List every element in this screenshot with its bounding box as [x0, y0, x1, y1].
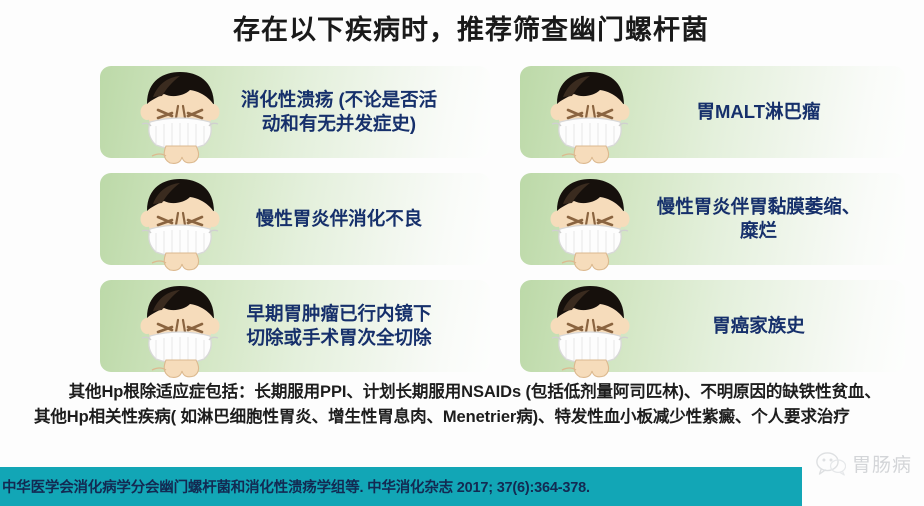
watermark-text: 胃肠病	[852, 450, 912, 477]
card-label: 早期胃肿瘤已行内镜下 切除或手术胃次全切除	[228, 302, 476, 349]
card-label: 消化性溃疡 (不论是否活 动和有无并发症史)	[228, 88, 476, 135]
card-label: 胃MALT淋巴瘤	[640, 100, 891, 124]
sick-person-mask-icon	[538, 278, 642, 378]
sick-person-mask-icon	[538, 171, 642, 271]
card-peptic-ulcer[interactable]: 消化性溃疡 (不论是否活 动和有无并发症史)	[100, 66, 490, 158]
sick-person-mask-icon	[128, 64, 232, 164]
citation-bar: 中华医学会消化病学分会幽门螺杆菌和消化性溃疡学组等. 中华消化杂志 2017; …	[0, 467, 802, 506]
footnote-paragraph: 其他Hp根除适应症包括：长期服用PPI、计划长期服用NSAIDs (包括低剂量阿…	[34, 380, 894, 430]
sick-person-mask-icon	[128, 171, 232, 271]
card-early-gastric-tumor-resection[interactable]: 早期胃肿瘤已行内镜下 切除或手术胃次全切除	[100, 280, 490, 372]
card-label: 慢性胃炎伴胃黏膜萎缩、 糜烂	[640, 195, 891, 242]
card-family-history-gastric-cancer[interactable]: 胃癌家族史	[520, 280, 905, 372]
card-gastritis-atrophy-erosion[interactable]: 慢性胃炎伴胃黏膜萎缩、 糜烂	[520, 173, 905, 265]
indication-card-grid: 消化性溃疡 (不论是否活 动和有无并发症史)	[0, 60, 924, 380]
page-title: 存在以下疾病时，推荐筛查幽门螺杆菌	[0, 8, 924, 47]
card-malt-lymphoma[interactable]: 胃MALT淋巴瘤	[520, 66, 905, 158]
sick-person-mask-icon	[538, 64, 642, 164]
card-row-3: 早期胃肿瘤已行内镜下 切除或手术胃次全切除	[0, 274, 924, 381]
card-row-2: 慢性胃炎伴消化不良	[0, 167, 924, 274]
watermark: 胃肠病	[816, 450, 912, 477]
card-label: 慢性胃炎伴消化不良	[228, 207, 476, 231]
card-row-1: 消化性溃疡 (不论是否活 动和有无并发症史)	[0, 60, 924, 167]
slide-root: 存在以下疾病时，推荐筛查幽门螺杆菌	[0, 0, 924, 506]
sick-person-mask-icon	[128, 278, 232, 378]
card-label: 胃癌家族史	[640, 314, 891, 338]
card-chronic-gastritis-dyspepsia[interactable]: 慢性胃炎伴消化不良	[100, 173, 490, 265]
wechat-bubble-icon	[816, 451, 846, 476]
citation-text: 中华医学会消化病学分会幽门螺杆菌和消化性溃疡学组等. 中华消化杂志 2017; …	[0, 476, 590, 497]
